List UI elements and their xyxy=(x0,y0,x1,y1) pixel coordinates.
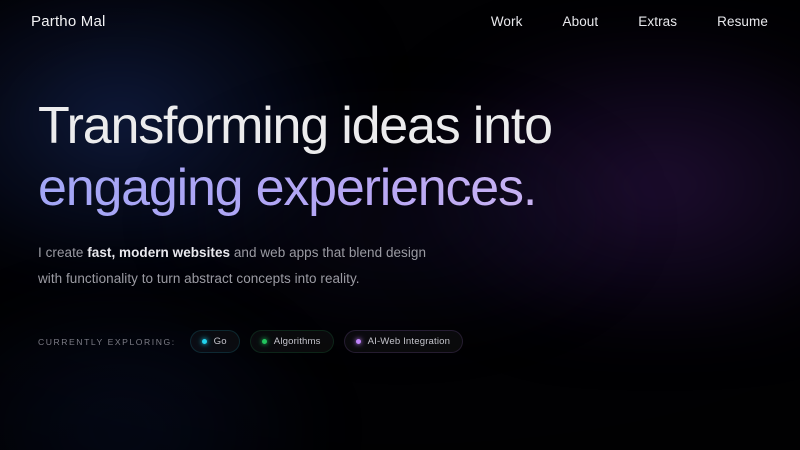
page-title: Transforming ideas into engaging experie… xyxy=(38,95,800,219)
currently-exploring-label: CURRENTLY EXPLORING: xyxy=(38,337,176,347)
hero-subtext-line-2: with functionality to turn abstract conc… xyxy=(38,266,800,292)
subtext-emphasis: fast, modern websites xyxy=(87,245,230,260)
exploring-chip-ai-web-integration[interactable]: AI-Web Integration xyxy=(344,330,464,353)
hero-subtext: I create fast, modern websites and web a… xyxy=(38,240,800,292)
nav-link-work[interactable]: Work xyxy=(491,14,523,29)
chip-label: AI-Web Integration xyxy=(368,336,451,347)
nav-link-extras[interactable]: Extras xyxy=(638,14,677,29)
exploring-chip-algorithms[interactable]: Algorithms xyxy=(250,330,334,353)
top-navbar: Partho Mal Work About Extras Resume xyxy=(0,0,800,42)
exploring-chip-list: Go Algorithms AI-Web Integration xyxy=(190,330,463,353)
page-root: Partho Mal Work About Extras Resume Tran… xyxy=(0,0,800,450)
hero-subtext-line-1: I create fast, modern websites and web a… xyxy=(38,240,800,266)
brand-logo[interactable]: Partho Mal xyxy=(31,13,106,30)
status-dot-icon xyxy=(262,339,267,344)
hero-section: Transforming ideas into engaging experie… xyxy=(0,42,800,353)
chip-label: Go xyxy=(214,336,227,347)
headline-line-1: Transforming ideas into xyxy=(38,95,800,157)
subtext-prefix: I create xyxy=(38,245,87,260)
chip-label: Algorithms xyxy=(274,336,321,347)
status-dot-icon xyxy=(356,339,361,344)
currently-exploring-row: CURRENTLY EXPLORING: Go Algorithms AI-We… xyxy=(38,330,800,353)
status-dot-icon xyxy=(202,339,207,344)
subtext-suffix: and web apps that blend design xyxy=(230,245,426,260)
exploring-chip-go[interactable]: Go xyxy=(190,330,240,353)
headline-line-2: engaging experiences. xyxy=(38,157,800,219)
nav-link-resume[interactable]: Resume xyxy=(717,14,768,29)
nav-link-about[interactable]: About xyxy=(562,14,598,29)
nav-links: Work About Extras Resume xyxy=(491,14,768,29)
